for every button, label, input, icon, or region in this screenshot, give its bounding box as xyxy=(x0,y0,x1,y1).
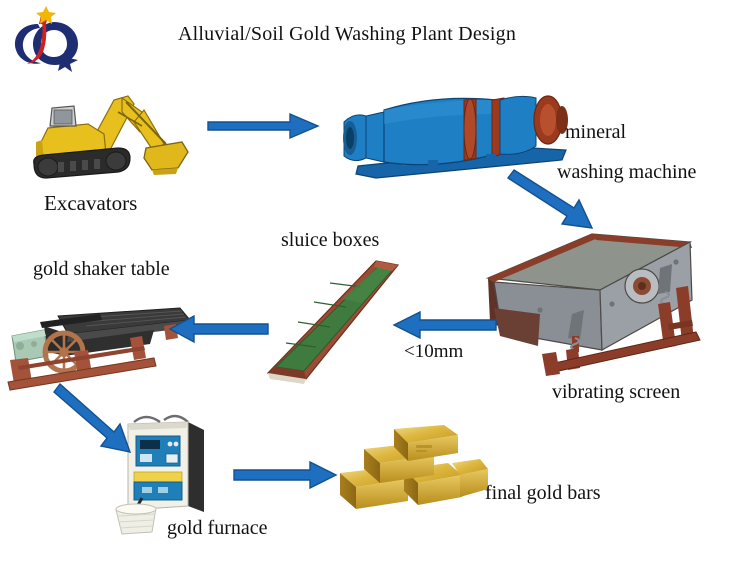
vibrating-screen-illustration xyxy=(480,228,740,378)
arrow-shaker-to-furnace xyxy=(58,382,144,454)
label-gold-shaker-table: gold shaker table xyxy=(33,257,170,282)
label-sluice-boxes: sluice boxes xyxy=(281,228,379,253)
final-gold-bars-illustration xyxy=(330,425,490,515)
label-mineral: mineral xyxy=(565,120,626,145)
company-logo xyxy=(8,6,86,74)
label-gold-furnace: gold furnace xyxy=(167,516,268,541)
arrow-excavator-to-trommel xyxy=(206,108,324,144)
label-vibrating-screen: vibrating screen xyxy=(552,380,680,405)
gold-shaker-table-illustration xyxy=(4,282,194,392)
page-title: Alluvial/Soil Gold Washing Plant Design xyxy=(178,22,516,47)
arrow-furnace-to-bars xyxy=(232,458,344,492)
excavator-illustration xyxy=(18,82,208,192)
arrow-sluice-to-shaker xyxy=(168,312,270,346)
arrow-trommel-to-screen xyxy=(512,166,608,234)
label-excavators: Excavators xyxy=(44,190,137,216)
label-final-gold-bars: final gold bars xyxy=(485,481,601,506)
label-particle-size: <10mm xyxy=(404,340,463,364)
arrow-screen-to-sluice xyxy=(392,308,498,342)
diagram-canvas: Alluvial/Soil Gold Washing Plant Design xyxy=(0,0,750,563)
